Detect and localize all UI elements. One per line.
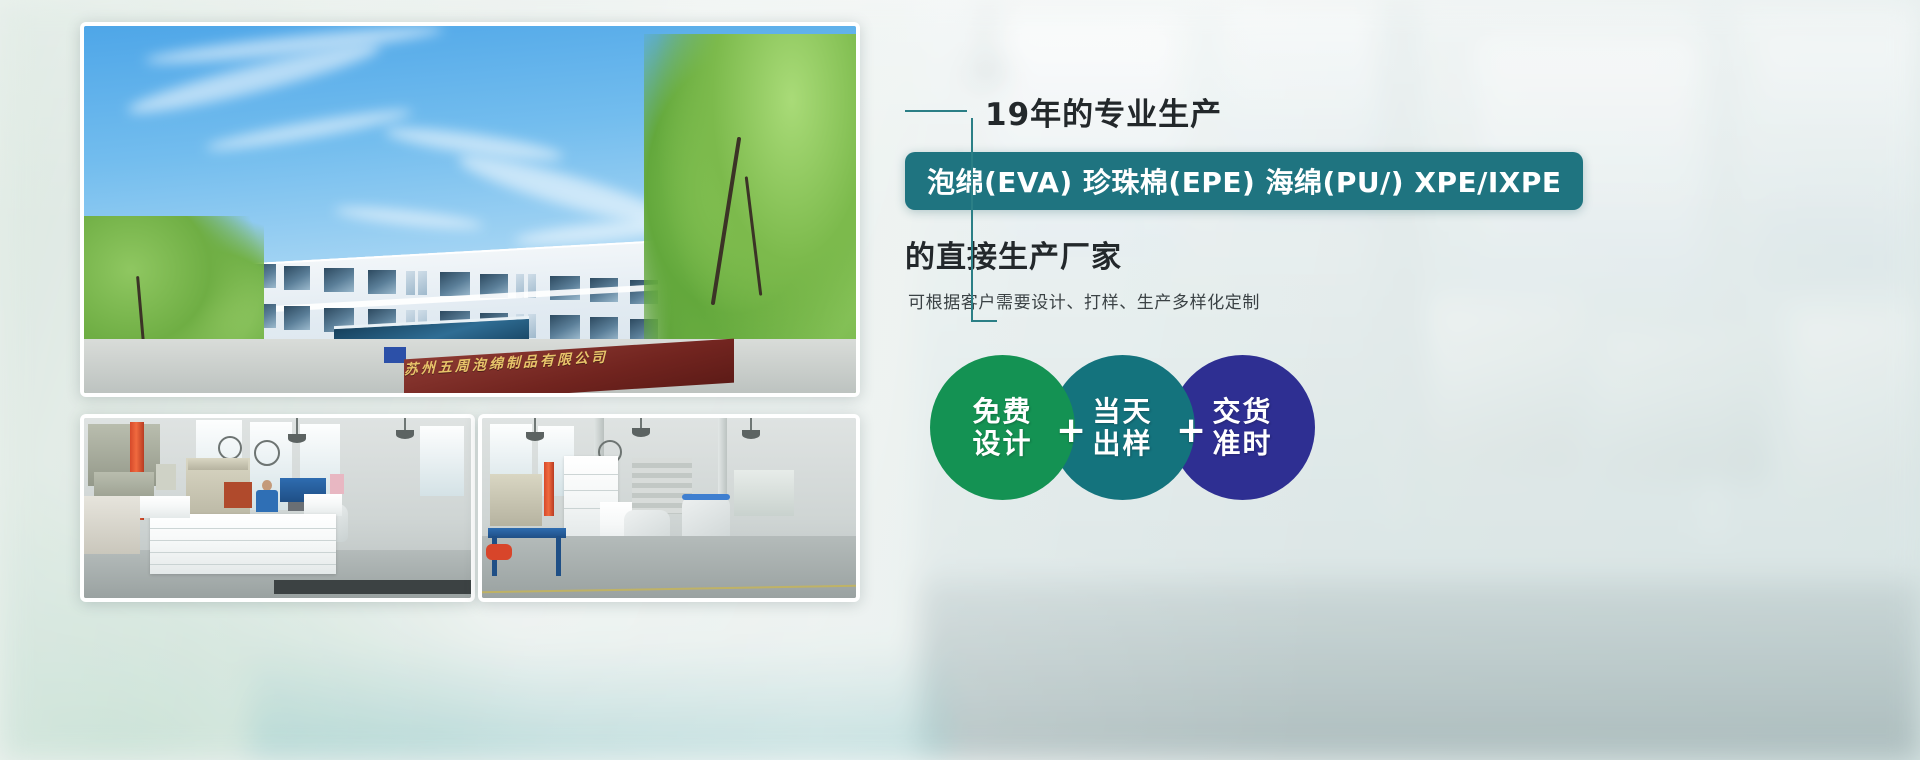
foam-cutting-photo	[80, 414, 475, 602]
factory-building-photo: 苏州五周泡绵制品有限公司	[80, 22, 860, 397]
foam-warehouse-photo	[478, 414, 860, 602]
subline-text: 的直接生产厂家	[905, 232, 1122, 276]
plus-separator-1: +	[1056, 413, 1086, 449]
subline-row: 的直接生产厂家	[905, 232, 1865, 276]
product-types-text: 泡绵(EVA) 珍珠棉(EPE) 海绵(PU/) XPE/IXPE	[927, 161, 1561, 201]
product-types-bar: 泡绵(EVA) 珍珠棉(EPE) 海绵(PU/) XPE/IXPE	[905, 152, 1583, 210]
plus-separator-2: +	[1176, 413, 1206, 449]
description-text: 可根据客户需要设计、打样、生产多样化定制	[908, 288, 1865, 313]
connector-vertical-line	[971, 118, 973, 322]
feature-line-1: 当天	[1092, 396, 1152, 427]
marketing-content: 19年的专业生产 泡绵(EVA) 珍珠棉(EPE) 海绵(PU/) XPE/IX…	[905, 88, 1865, 313]
headline-row: 19年的专业生产	[905, 88, 1865, 134]
headline-lead-line	[905, 110, 967, 112]
feature-circle-free-design: 免费 设计	[930, 355, 1075, 500]
feature-line-2: 设计	[972, 428, 1032, 459]
connector-line	[971, 118, 973, 322]
feature-circles: 免费 设计 + 当天 出样 + 交货 准时	[930, 355, 1350, 505]
photo-collage: 苏州五周泡绵制品有限公司	[80, 22, 860, 602]
headline-text: 19年的专业生产	[985, 89, 1222, 134]
feature-line-2: 出样	[1092, 428, 1152, 459]
feature-line-1: 免费	[972, 396, 1032, 427]
feature-line-2: 准时	[1212, 428, 1272, 459]
feature-line-1: 交货	[1212, 396, 1272, 427]
connector-foot-line	[971, 320, 997, 322]
